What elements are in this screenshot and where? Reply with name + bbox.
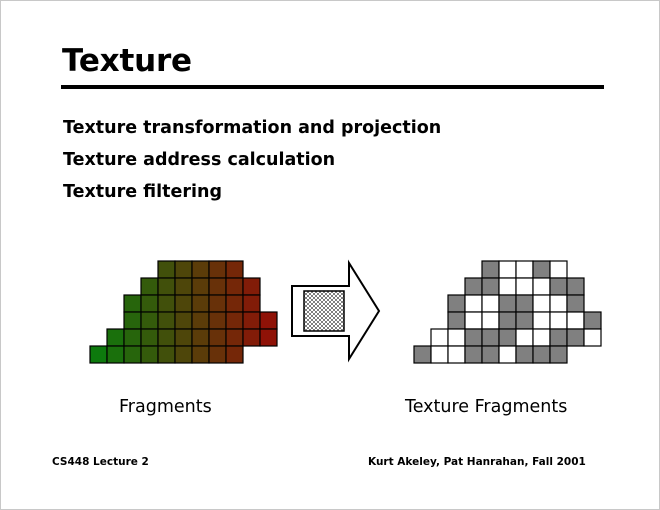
grid-cell bbox=[482, 295, 499, 312]
grid-cell bbox=[499, 312, 516, 329]
grid-cell bbox=[499, 329, 516, 346]
grid-cell bbox=[260, 329, 277, 346]
grid-cell bbox=[158, 295, 175, 312]
texture-checkerboard-swatch bbox=[304, 291, 344, 331]
grid-cell bbox=[465, 278, 482, 295]
grid-cell bbox=[533, 312, 550, 329]
grid-cell bbox=[516, 278, 533, 295]
grid-cell bbox=[414, 346, 431, 363]
grid-cell bbox=[516, 261, 533, 278]
grid-cell bbox=[226, 261, 243, 278]
grid-cell bbox=[448, 295, 465, 312]
grid-cell bbox=[107, 329, 124, 346]
grid-cell bbox=[192, 346, 209, 363]
grid-cell bbox=[465, 329, 482, 346]
grid-cell bbox=[124, 312, 141, 329]
grid-cell bbox=[482, 346, 499, 363]
grid-cell bbox=[448, 346, 465, 363]
grid-cell bbox=[226, 312, 243, 329]
grid-cell bbox=[243, 312, 260, 329]
grid-cell bbox=[124, 295, 141, 312]
grid-cell bbox=[567, 295, 584, 312]
grid-cell bbox=[209, 295, 226, 312]
grid-cell bbox=[226, 278, 243, 295]
grid-cell bbox=[550, 312, 567, 329]
grid-cell bbox=[533, 261, 550, 278]
grid-cell bbox=[226, 329, 243, 346]
grid-cell bbox=[226, 295, 243, 312]
grid-cell bbox=[465, 312, 482, 329]
grid-cell bbox=[158, 261, 175, 278]
grid-cell bbox=[192, 295, 209, 312]
grid-cell bbox=[584, 329, 601, 346]
grid-cell bbox=[516, 312, 533, 329]
grid-cell bbox=[499, 346, 516, 363]
footer-authors-label: Kurt Akeley, Pat Hanrahan, Fall 2001 bbox=[368, 456, 586, 468]
grid-cell bbox=[158, 329, 175, 346]
grid-cell bbox=[482, 329, 499, 346]
grid-cell bbox=[158, 312, 175, 329]
grid-cell bbox=[158, 278, 175, 295]
grid-cell bbox=[124, 329, 141, 346]
grid-cell bbox=[243, 295, 260, 312]
grid-cell bbox=[209, 329, 226, 346]
caption-fragments: Fragments bbox=[119, 397, 212, 417]
grid-cell bbox=[175, 312, 192, 329]
grid-cell bbox=[107, 346, 124, 363]
grid-cell bbox=[226, 346, 243, 363]
grid-cell bbox=[533, 329, 550, 346]
page-title: Texture bbox=[62, 45, 192, 78]
bullet-item-3: Texture filtering bbox=[63, 176, 583, 208]
grid-cell bbox=[209, 261, 226, 278]
grid-cell bbox=[482, 261, 499, 278]
grid-cell bbox=[567, 329, 584, 346]
fragment-grid bbox=[90, 261, 277, 363]
grid-cell bbox=[141, 329, 158, 346]
footer-lecture-label: CS448 Lecture 2 bbox=[52, 456, 149, 468]
grid-cell bbox=[175, 278, 192, 295]
texture-fragment-grid bbox=[414, 261, 601, 363]
grid-cell bbox=[499, 278, 516, 295]
grid-cell bbox=[141, 295, 158, 312]
grid-cell bbox=[175, 261, 192, 278]
grid-cell bbox=[141, 278, 158, 295]
grid-cell bbox=[192, 278, 209, 295]
bullet-list: Texture transformation and projection Te… bbox=[63, 112, 583, 208]
grid-cell bbox=[550, 329, 567, 346]
grid-cell bbox=[567, 278, 584, 295]
grid-cell bbox=[192, 261, 209, 278]
grid-cell bbox=[175, 295, 192, 312]
grid-cell bbox=[550, 261, 567, 278]
grid-cell bbox=[192, 312, 209, 329]
grid-cell bbox=[499, 261, 516, 278]
grid-cell bbox=[550, 346, 567, 363]
grid-cell bbox=[141, 312, 158, 329]
grid-cell bbox=[516, 295, 533, 312]
grid-cell bbox=[175, 329, 192, 346]
grid-cell bbox=[550, 295, 567, 312]
grid-cell bbox=[243, 278, 260, 295]
grid-cell bbox=[482, 278, 499, 295]
grid-cell bbox=[567, 312, 584, 329]
grid-cell bbox=[533, 278, 550, 295]
grid-cell bbox=[260, 312, 277, 329]
grid-cell bbox=[158, 346, 175, 363]
slide-canvas: Texture Texture transformation and proje… bbox=[0, 0, 660, 510]
grid-cell bbox=[448, 329, 465, 346]
grid-cell bbox=[465, 346, 482, 363]
grid-cell bbox=[90, 346, 107, 363]
conversion-arrow bbox=[292, 263, 379, 359]
grid-cell bbox=[175, 346, 192, 363]
grid-cell bbox=[141, 346, 158, 363]
grid-cell bbox=[499, 295, 516, 312]
bullet-item-1: Texture transformation and projection bbox=[63, 112, 583, 144]
grid-cell bbox=[533, 346, 550, 363]
grid-cell bbox=[516, 329, 533, 346]
bullet-item-2: Texture address calculation bbox=[63, 144, 583, 176]
grid-cell bbox=[482, 312, 499, 329]
grid-cell bbox=[465, 295, 482, 312]
grid-cell bbox=[124, 346, 141, 363]
grid-cell bbox=[192, 329, 209, 346]
caption-texture-fragments: Texture Fragments bbox=[405, 397, 567, 417]
grid-cell bbox=[584, 312, 601, 329]
grid-cell bbox=[516, 346, 533, 363]
grid-cell bbox=[431, 346, 448, 363]
grid-cell bbox=[431, 329, 448, 346]
grid-cell bbox=[533, 295, 550, 312]
title-divider bbox=[61, 85, 604, 89]
grid-cell bbox=[243, 329, 260, 346]
grid-cell bbox=[209, 312, 226, 329]
grid-cell bbox=[448, 312, 465, 329]
grid-cell bbox=[550, 278, 567, 295]
grid-cell bbox=[209, 346, 226, 363]
grid-cell bbox=[209, 278, 226, 295]
